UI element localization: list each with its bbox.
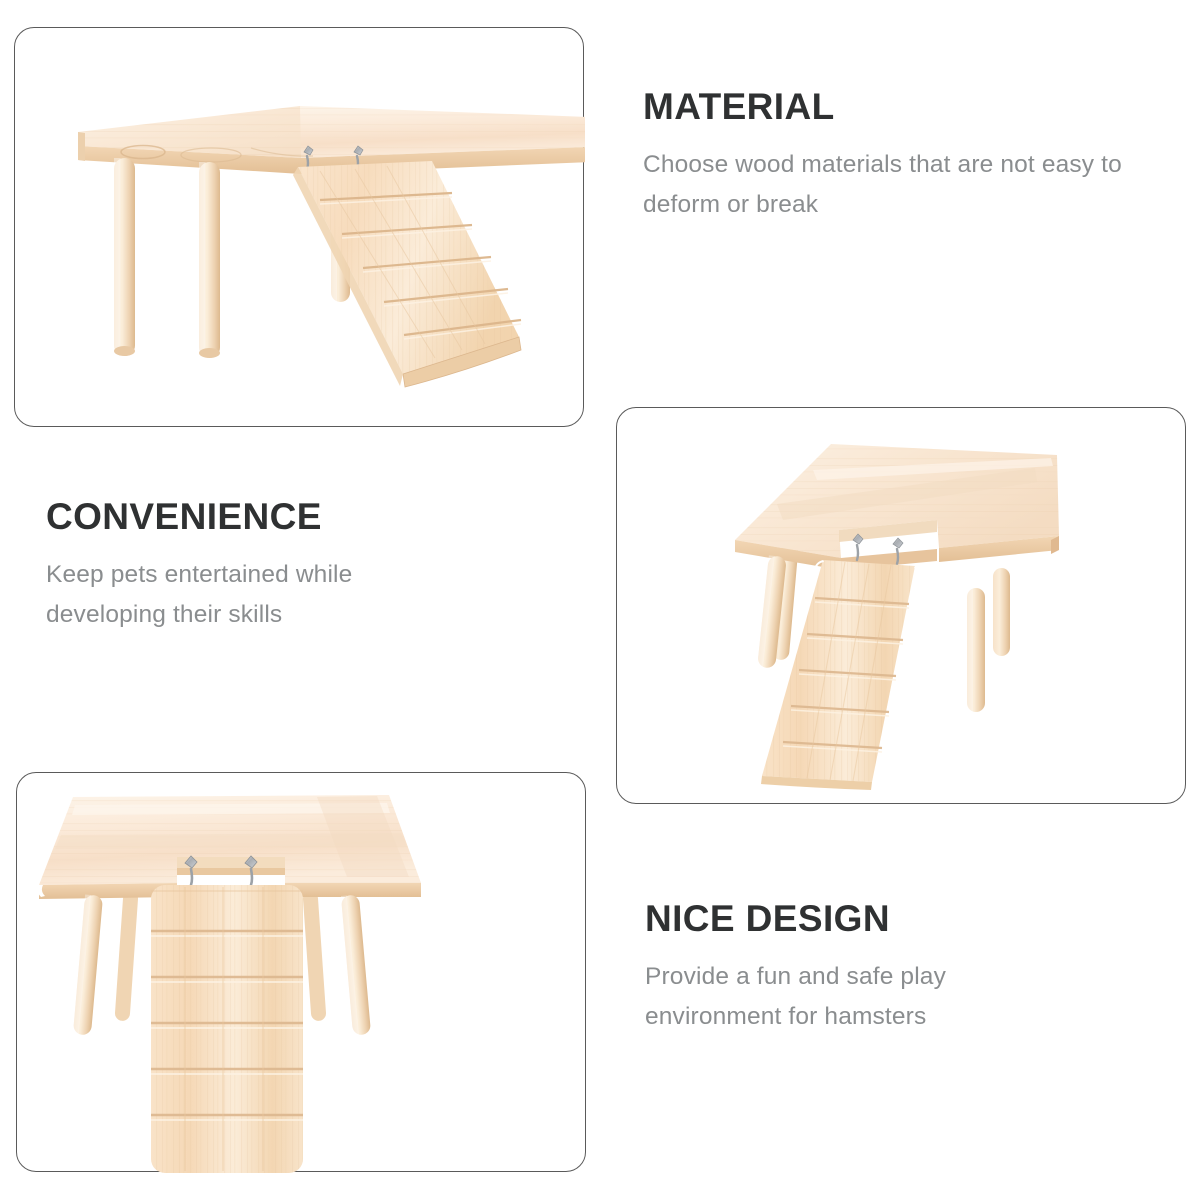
product-illustration-angled <box>15 28 585 428</box>
leg-front-right <box>967 588 985 712</box>
infographic-page: MATERIAL Choose wood materials that are … <box>0 0 1200 1200</box>
feature-text-nice-design: NICE DESIGN Provide a fun and safe play … <box>645 900 1075 1036</box>
feature-description-nice-design: Provide a fun and safe play environment … <box>645 957 1075 1036</box>
platform-top <box>37 795 421 899</box>
ladder-ramp <box>151 885 303 1173</box>
product-illustration-three-quarter <box>617 408 1187 805</box>
photo-card-nice-design <box>616 407 1186 804</box>
platform-top <box>78 106 585 174</box>
feature-title-convenience: CONVENIENCE <box>46 498 476 537</box>
photo-card-convenience <box>16 772 586 1172</box>
ladder-ramp <box>293 161 521 387</box>
feature-description-convenience: Keep pets entertained while developing t… <box>46 555 476 634</box>
leg-front-right <box>341 894 371 1035</box>
photo-card-material <box>14 27 584 427</box>
feature-title-nice-design: NICE DESIGN <box>645 900 1075 939</box>
product-photo-nice-design <box>617 408 1185 803</box>
leg-front-right <box>199 162 220 358</box>
product-illustration-front <box>17 773 587 1173</box>
feature-text-convenience: CONVENIENCE Keep pets entertained while … <box>46 498 476 634</box>
product-photo-material <box>15 28 583 426</box>
leg-rear-left <box>114 891 138 1022</box>
leg-rear-right <box>993 568 1010 656</box>
feature-text-material: MATERIAL Choose wood materials that are … <box>643 88 1153 224</box>
leg-front-left <box>114 158 135 356</box>
feature-title-material: MATERIAL <box>643 88 1153 127</box>
product-photo-convenience <box>17 773 585 1171</box>
leg-rear-right <box>302 891 326 1022</box>
feature-description-material: Choose wood materials that are not easy … <box>643 145 1153 224</box>
leg-front-left <box>73 894 103 1035</box>
